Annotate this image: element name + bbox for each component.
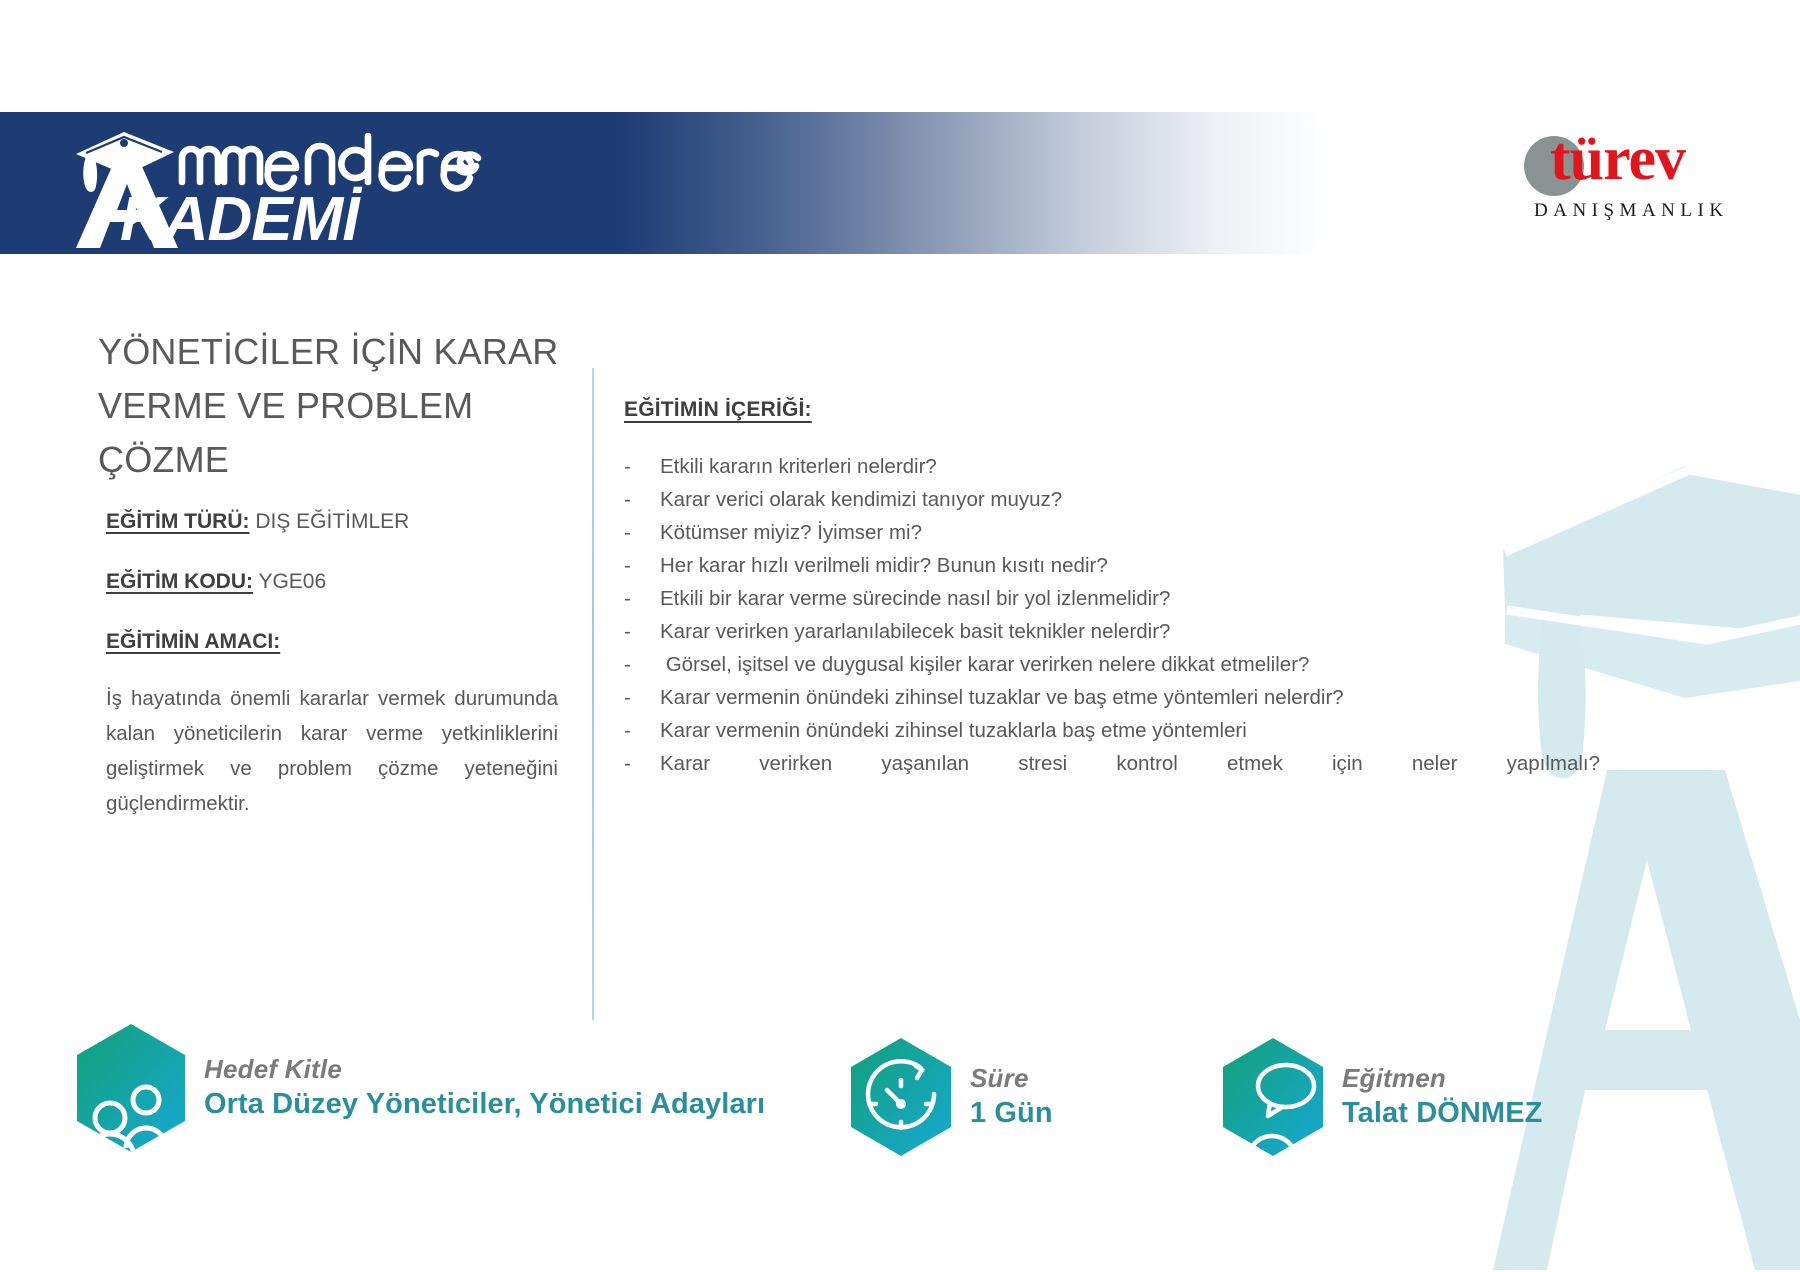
- list-item-label: Her karar hızlı verilmeli midir? Bunun k…: [660, 549, 1604, 582]
- badge-target-audience: Hedef Kitle Orta Düzey Yöneticiler, Yöne…: [72, 1022, 765, 1154]
- meta-row-training-code: EĞİTİM KODU: YGE06: [106, 569, 568, 595]
- list-item: - Etkili kararın kriterleri nelerdir?: [624, 450, 1604, 483]
- list-item-label: Görsel, işitsel ve duygusal kişiler kara…: [660, 648, 1604, 681]
- content-list: - Etkili kararın kriterleri nelerdir? - …: [624, 450, 1604, 780]
- bullet-dash: -: [624, 747, 660, 780]
- list-item: - Etkili bir karar verme sürecinde nasıl…: [624, 582, 1604, 615]
- badge-label: Hedef Kitle: [204, 1053, 765, 1085]
- clock-icon: [846, 1036, 956, 1158]
- list-item: - Karar vermenin önündeki zihinsel tuzak…: [624, 714, 1604, 747]
- purpose-paragraph: İş hayatında önemli kararlar vermek duru…: [106, 681, 558, 821]
- column-divider: [592, 368, 594, 1020]
- meta-label-training-code: EĞİTİM KODU:: [106, 570, 253, 593]
- turev-danismanlik-logo: türev DANIŞMANLIK: [1498, 124, 1748, 228]
- bullet-dash: -: [624, 549, 660, 582]
- course-content-column: EĞİTİMİN İÇERİĞİ: - Etkili kararın krite…: [624, 398, 1604, 780]
- bullet-dash: -: [624, 714, 660, 747]
- turev-subtitle: DANIŞMANLIK: [1534, 200, 1729, 222]
- turev-wordmark: türev: [1550, 126, 1685, 192]
- speech-bubble-person-icon: [1218, 1036, 1328, 1158]
- bullet-dash: -: [624, 615, 660, 648]
- list-item-label: Kötümser miyiz? İyimser mi?: [660, 516, 1604, 549]
- badge-texts: Hedef Kitle Orta Düzey Yöneticiler, Yöne…: [204, 1053, 765, 1123]
- bullet-dash: -: [624, 648, 660, 681]
- badge-label: Eğitmen: [1342, 1062, 1542, 1094]
- meta-label-training-type: EĞİTİM TÜRÜ:: [106, 510, 249, 533]
- turev-mark: türev: [1498, 124, 1748, 196]
- people-icon: [72, 1022, 190, 1154]
- list-item-label: Etkili kararın kriterleri nelerdir?: [660, 450, 1604, 483]
- list-item-label: Karar verici olarak kendimizi tanıyor mu…: [660, 483, 1604, 516]
- meta-row-purpose-heading: EĞİTİMİN AMACI:: [106, 629, 568, 655]
- list-item-label: Karar vermenin önündeki zihinsel tuzakla…: [660, 681, 1604, 714]
- meta-value-training-code: YGE06: [253, 570, 326, 593]
- bullet-dash: -: [624, 483, 660, 516]
- bullet-dash: -: [624, 450, 660, 483]
- badge-label: Süre: [970, 1062, 1053, 1094]
- badge-value: Orta Düzey Yöneticiler, Yönetici Adaylar…: [204, 1085, 765, 1123]
- list-item-label: Karar verirken yaşanılan stresi kontrol …: [660, 747, 1604, 780]
- course-info-column: YÖNETİCİLER İÇİN KARAR VERME VE PROBLEM …: [98, 325, 568, 821]
- list-item: - Görsel, işitsel ve duygusal kişiler ka…: [624, 648, 1604, 681]
- list-item: - Karar verirken yararlanılabilecek basi…: [624, 615, 1604, 648]
- list-item: - Karar verirken yaşanılan stresi kontro…: [624, 747, 1604, 780]
- content-heading: EĞİTİMİN İÇERİĞİ:: [624, 398, 1604, 422]
- list-item: - Karar vermenin önündeki zihinsel tuzak…: [624, 681, 1604, 714]
- list-item: - Her karar hızlı verilmeli midir? Bunun…: [624, 549, 1604, 582]
- bullet-dash: -: [624, 681, 660, 714]
- meta-row-training-type: EĞİTİM TÜRÜ: DIŞ EĞİTİMLER: [106, 509, 568, 535]
- badge-texts: Eğitmen Talat DÖNMEZ: [1342, 1062, 1542, 1132]
- list-item-label: Etkili bir karar verme sürecinde nasıl b…: [660, 582, 1604, 615]
- badge-duration: Süre 1 Gün: [846, 1036, 1053, 1158]
- page-title: YÖNETİCİLER İÇİN KARAR VERME VE PROBLEM …: [98, 325, 568, 487]
- training-card-page: KADEMİ türev DANIŞMANLIK: [0, 0, 1800, 1272]
- bullet-dash: -: [624, 516, 660, 549]
- svg-text:KADEMİ: KADEMİ: [120, 185, 363, 248]
- badge-value: Talat DÖNMEZ: [1342, 1094, 1542, 1132]
- badge-texts: Süre 1 Gün: [970, 1062, 1053, 1132]
- meta-label-purpose: EĞİTİMİN AMACI:: [106, 630, 280, 653]
- list-item: - Kötümser miyiz? İyimser mi?: [624, 516, 1604, 549]
- badge-trainer: Eğitmen Talat DÖNMEZ: [1218, 1036, 1542, 1158]
- list-item: - Karar verici olarak kendimizi tanıyor …: [624, 483, 1604, 516]
- list-item-label: Karar verirken yararlanılabilecek basit …: [660, 615, 1604, 648]
- menderes-akademi-logo: KADEMİ: [62, 118, 482, 248]
- bullet-dash: -: [624, 582, 660, 615]
- badge-value: 1 Gün: [970, 1094, 1053, 1132]
- list-item-label: Karar vermenin önündeki zihinsel tuzakla…: [660, 714, 1604, 747]
- meta-value-training-type: DIŞ EĞİTİMLER: [249, 510, 409, 533]
